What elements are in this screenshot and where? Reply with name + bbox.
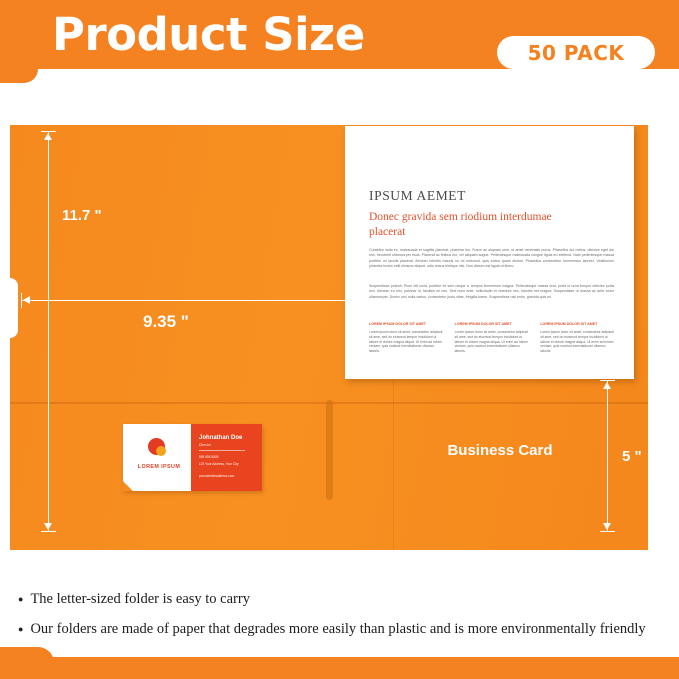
business-card-sample: LOREM IPSUM Johnathan Doe Director 555 5… bbox=[123, 424, 262, 491]
document-paragraph-1: Curabitur nulla ex, malesuada et sagitti… bbox=[369, 248, 614, 270]
width-arrow-right bbox=[357, 296, 364, 304]
document-column: LOREM IPSUM DOLOR SIT AMET Lorem ipsum d… bbox=[369, 322, 446, 354]
page-title: Product Size bbox=[52, 8, 365, 61]
document-column-body: Lorem ipsum dolor sit amet, consectetur … bbox=[369, 330, 446, 354]
width-tick-left bbox=[21, 293, 22, 308]
bullet-text: Our folders are made of paper that degra… bbox=[30, 620, 645, 639]
document-column-body: Lorem ipsum dolor sit amet, consectetur … bbox=[455, 330, 532, 354]
width-dimension-label: 9.35 " bbox=[143, 312, 189, 332]
document-column-heading: LOREM IPSUM DOLOR SIT AMET bbox=[540, 322, 617, 327]
business-card-back: Johnathan Doe Director 555 555 5555 123 … bbox=[191, 424, 262, 491]
document-columns: LOREM IPSUM DOLOR SIT AMET Lorem ipsum d… bbox=[369, 322, 617, 354]
bullet-icon: ● bbox=[18, 620, 23, 639]
header-divider bbox=[0, 69, 679, 95]
height-tick-bottom bbox=[41, 531, 56, 532]
list-item: ● The letter-sized folder is easy to car… bbox=[18, 590, 668, 609]
business-card-pocket-label: Business Card bbox=[430, 442, 570, 459]
height-arrow-down bbox=[44, 523, 52, 530]
business-card-front: LOREM IPSUM bbox=[123, 424, 191, 491]
pack-count-badge: 50 PACK bbox=[497, 36, 655, 69]
document-column-heading: LOREM IPSUM DOLOR SIT AMET bbox=[455, 322, 532, 327]
width-arrow-left bbox=[23, 296, 30, 304]
product-size-infographic: Product Size 50 PACK IPSUM AEMET Donec g… bbox=[0, 0, 679, 679]
pocket-tick-top bbox=[600, 380, 615, 381]
folder-card-slit bbox=[326, 400, 333, 500]
pocket-dimension-line bbox=[607, 381, 608, 531]
document-column: LOREM IPSUM DOLOR SIT AMET Lorem ipsum d… bbox=[540, 322, 617, 354]
pack-count-label: 50 PACK bbox=[528, 41, 625, 65]
bullet-icon: ● bbox=[18, 590, 23, 609]
business-card-logo-text: LOREM IPSUM bbox=[133, 464, 185, 470]
logo-inner-circle-icon bbox=[156, 446, 166, 456]
height-tick-top bbox=[41, 131, 56, 132]
footer-accent-bar bbox=[0, 657, 679, 679]
document-column-body: Lorem ipsum dolor sit amet, consectetur … bbox=[540, 330, 617, 354]
height-dimension-line bbox=[48, 132, 49, 532]
height-dimension-label: 11.7 " bbox=[62, 207, 102, 224]
business-card-title: Director bbox=[199, 443, 211, 447]
business-card-address: 123 Your Address, Your City bbox=[199, 462, 255, 467]
business-card-name: Johnathan Doe bbox=[199, 435, 242, 441]
business-card-website: yourwebsiteaddress.com bbox=[199, 474, 255, 479]
document-subheading: Donec gravida sem riodium interdumae pla… bbox=[369, 210, 589, 240]
pocket-dimension-label: 5 " bbox=[622, 448, 642, 465]
business-card-phone: 555 555 5555 bbox=[199, 455, 255, 460]
list-item: ● Our folders are made of paper that deg… bbox=[18, 620, 668, 639]
bullet-text: The letter-sized folder is easy to carry bbox=[30, 590, 250, 609]
document-column-heading: LOREM IPSUM DOLOR SIT AMET bbox=[369, 322, 446, 327]
document-heading: IPSUM AEMET bbox=[369, 188, 466, 204]
width-tick-right bbox=[365, 293, 366, 308]
folder-left-notch bbox=[10, 278, 18, 338]
document-column: LOREM IPSUM DOLOR SIT AMET Lorem ipsum d… bbox=[455, 322, 532, 354]
pocket-tick-bottom bbox=[600, 531, 615, 532]
document-paragraph-2: Suspendisse potenti. Proin elit nulla, p… bbox=[369, 284, 614, 300]
pocket-arrow-up bbox=[603, 382, 611, 389]
width-dimension-line bbox=[22, 300, 366, 301]
height-arrow-up bbox=[44, 133, 52, 140]
pocket-arrow-down bbox=[603, 523, 611, 530]
business-card-separator bbox=[199, 450, 245, 451]
inserted-document: IPSUM AEMET Donec gravida sem riodium in… bbox=[345, 126, 634, 379]
feature-bullet-list: ● The letter-sized folder is easy to car… bbox=[18, 590, 668, 650]
